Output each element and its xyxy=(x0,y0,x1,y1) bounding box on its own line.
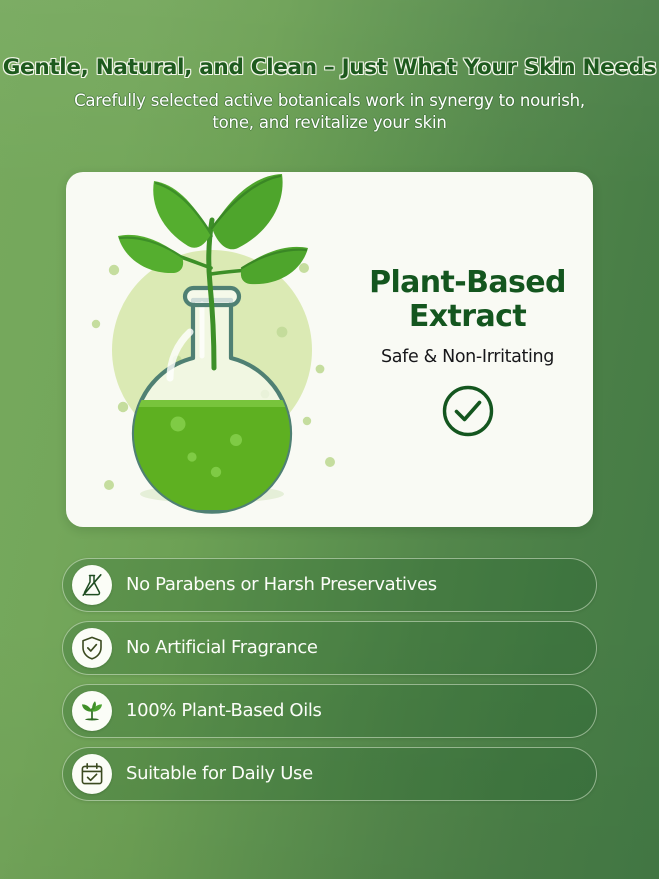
pill-icon-wrap xyxy=(72,691,112,731)
subheadline-line-1: Carefully selected active botanicals wor… xyxy=(0,90,659,112)
feature-pill-label: Suitable for Daily Use xyxy=(126,765,313,783)
hero-title-line-1: Plant-Based xyxy=(369,266,566,300)
calendar-check-icon xyxy=(79,761,105,787)
product-infographic-poster: Gentle, Natural, and Clean – Just What Y… xyxy=(0,0,659,879)
hero-title-line-2: Extract xyxy=(369,300,566,334)
pill-icon-wrap xyxy=(72,754,112,794)
flask-with-sprout-illustration xyxy=(66,172,356,527)
feature-pill-no-fragrance[interactable]: No Artificial Fragrance xyxy=(62,621,597,675)
shield-check-icon xyxy=(79,635,105,661)
subheadline: Carefully selected active botanicals wor… xyxy=(0,90,659,135)
seedling-icon xyxy=(79,698,105,724)
check-circle-icon xyxy=(440,383,496,439)
feature-pill-no-parabens[interactable]: No Parabens or Harsh Preservatives xyxy=(62,558,597,612)
hero-subtitle: Safe & Non-Irritating xyxy=(381,347,554,367)
feature-pill-label: No Parabens or Harsh Preservatives xyxy=(126,576,437,594)
feature-pill-plant-based-oils[interactable]: 100% Plant-Based Oils xyxy=(62,684,597,738)
hero-text-block: Plant-Based Extract Safe & Non-Irritatin… xyxy=(356,266,593,440)
headline: Gentle, Natural, and Clean – Just What Y… xyxy=(0,56,659,81)
feature-pill-daily-use[interactable]: Suitable for Daily Use xyxy=(62,747,597,801)
pill-icon-wrap xyxy=(72,628,112,668)
hero-title: Plant-Based Extract xyxy=(369,266,566,334)
flask-sprout-svg xyxy=(66,172,356,527)
pill-icon-wrap xyxy=(72,565,112,605)
subheadline-line-2: tone, and revitalize your skin xyxy=(0,112,659,134)
hero-card: Plant-Based Extract Safe & Non-Irritatin… xyxy=(66,172,593,527)
feature-pill-label: No Artificial Fragrance xyxy=(126,639,318,657)
feature-pill-list: No Parabens or Harsh Preservatives No Ar… xyxy=(62,558,597,801)
hero-card-inner: Plant-Based Extract Safe & Non-Irritatin… xyxy=(66,172,593,527)
feature-pill-label: 100% Plant-Based Oils xyxy=(126,702,322,720)
no-flask-icon xyxy=(79,572,105,598)
header-block: Gentle, Natural, and Clean – Just What Y… xyxy=(0,56,659,134)
